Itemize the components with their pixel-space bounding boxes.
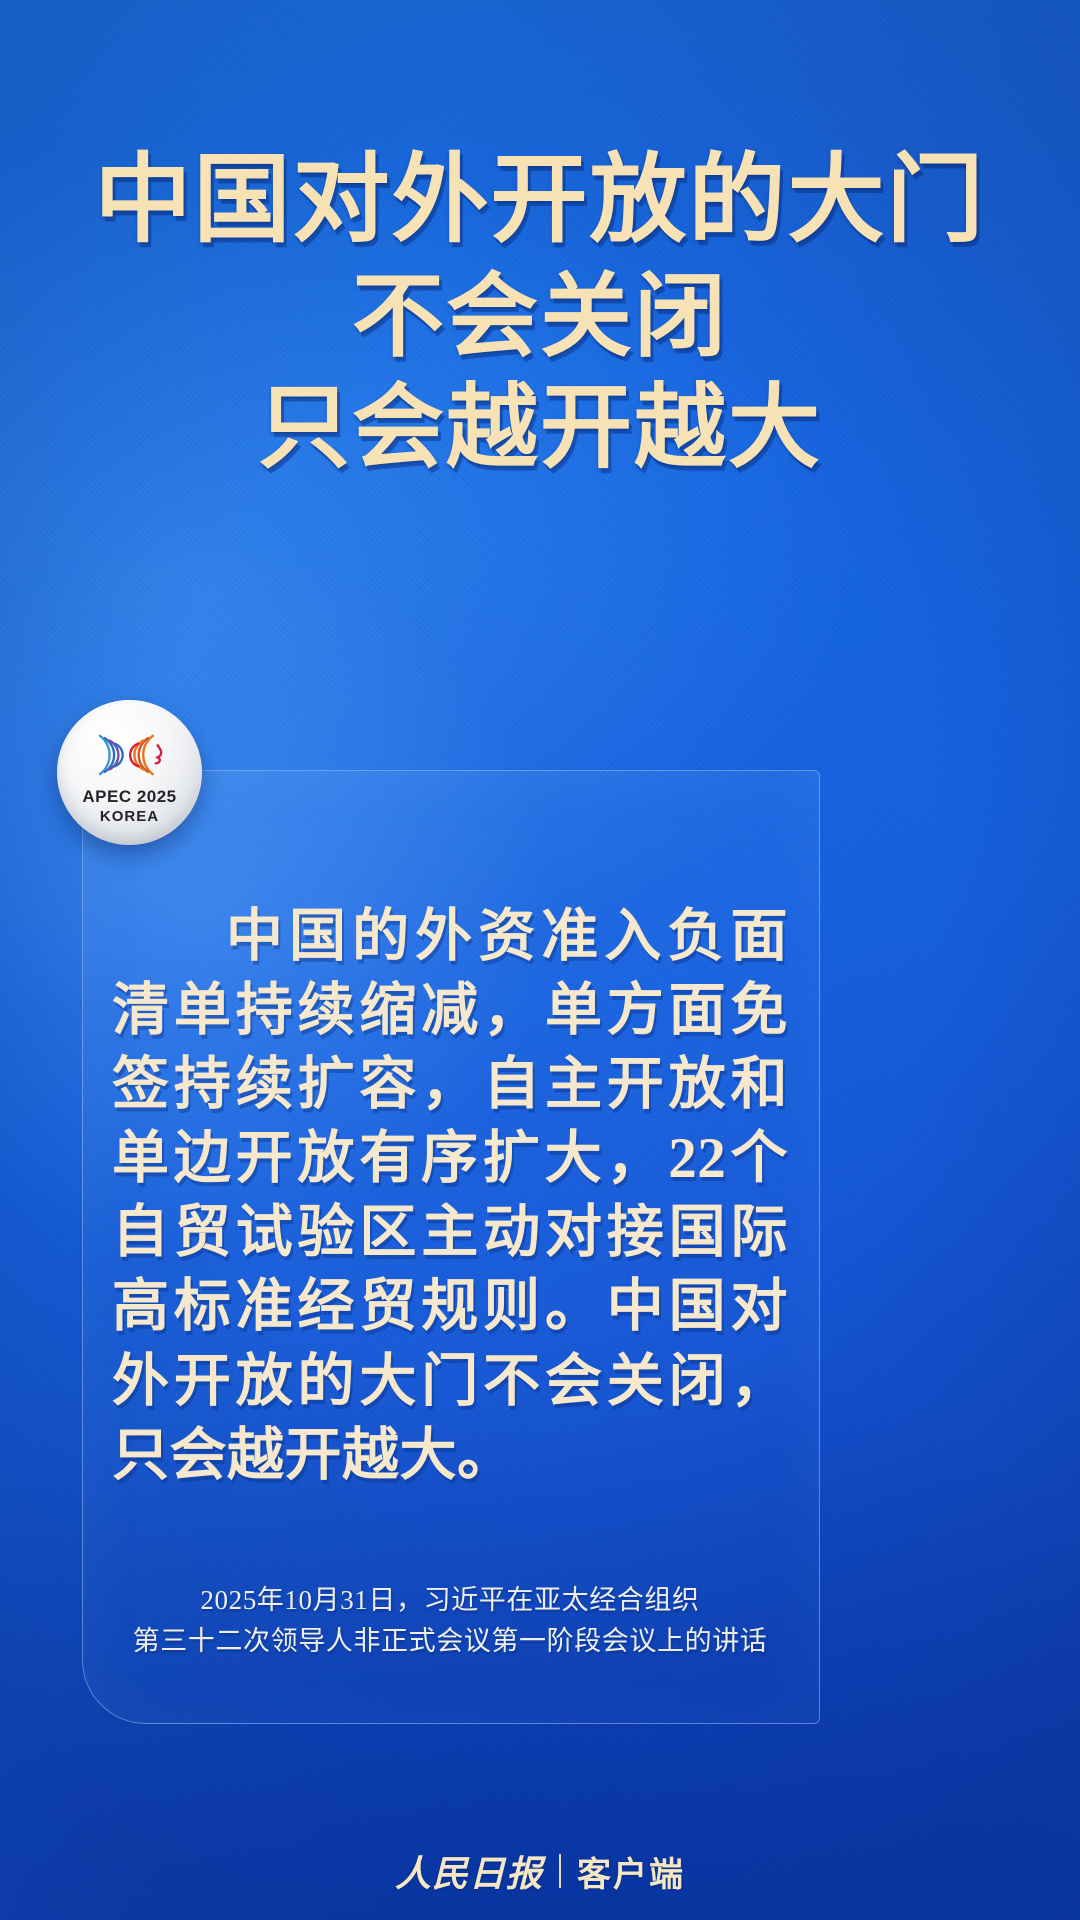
attribution-line-1: 2025年10月31日，习近平在亚太经合组织 bbox=[82, 1580, 818, 1621]
headline-line-3: 只会越开越大 bbox=[0, 380, 1080, 478]
quote-body-text: 中国的外资准入负面清单持续缩减，单方面免签持续扩容，自主开放和单边开放有序扩大，… bbox=[112, 900, 788, 1493]
poster-canvas: 中国对外开放的大门 不会关闭 只会越开越大 APEC 2025 KOR bbox=[0, 0, 1080, 1920]
brand-name-label: 人民日报 bbox=[395, 1845, 543, 1897]
attribution: 2025年10月31日，习近平在亚太经合组织 第三十二次领导人非正式会议第一阶段… bbox=[82, 1580, 818, 1662]
headline-line-1: 中国对外开放的大门 bbox=[0, 150, 1080, 253]
apec-year-label: APEC 2025 bbox=[82, 788, 176, 805]
headline-line-2: 不会关闭 bbox=[0, 269, 1080, 367]
apec-country-label: KOREA bbox=[100, 809, 159, 824]
brand-separator bbox=[559, 1854, 561, 1888]
footer-brand: 人民日报 客户端 bbox=[0, 1845, 1080, 1897]
page-title: 中国对外开放的大门 不会关闭 只会越开越大 bbox=[0, 150, 1080, 478]
apec-emblem-icon bbox=[82, 725, 178, 785]
apec-badge: APEC 2025 KOREA bbox=[57, 700, 202, 845]
brand-product-label: 客户端 bbox=[577, 1847, 685, 1896]
attribution-line-2: 第三十二次领导人非正式会议第一阶段会议上的讲话 bbox=[82, 1621, 818, 1662]
